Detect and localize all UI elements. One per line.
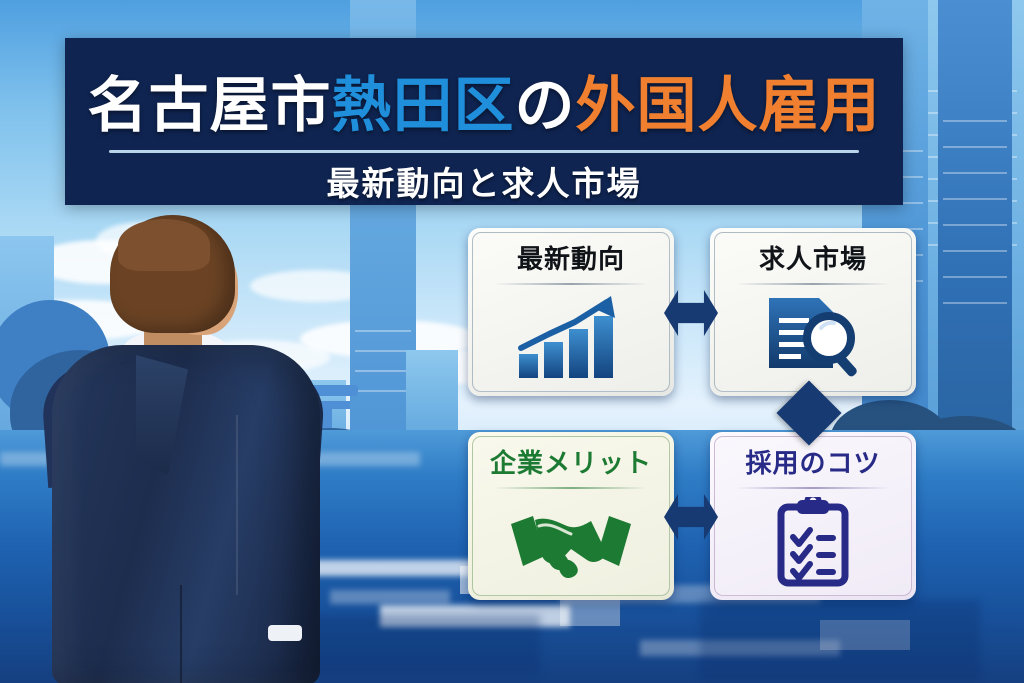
building-shape <box>938 0 1012 470</box>
header-banner: 名古屋市熱田区の外国人雇用 最新動向と求人市場 <box>65 38 903 205</box>
card-job-market[interactable]: 求人市場 <box>710 228 916 396</box>
card-hiring-tips[interactable]: 採用のコツ <box>710 432 916 600</box>
page-subtitle: 最新動向と求人市場 <box>65 164 903 204</box>
title-part-2: 熱田区 <box>332 72 515 139</box>
mosaic-tile <box>560 600 620 626</box>
page-title: 名古屋市熱田区の外国人雇用 <box>65 76 903 136</box>
handshake-icon <box>473 489 669 595</box>
title-part-4: 外国人雇用 <box>576 72 881 139</box>
clipboard-checklist-icon <box>715 489 911 595</box>
topic-card-grid: 最新動向 求 <box>468 228 916 600</box>
mosaic-tile <box>820 620 910 650</box>
sleeve-seam <box>236 415 238 595</box>
jacket-vent <box>180 585 182 683</box>
card-latest-trends[interactable]: 最新動向 <box>468 228 674 396</box>
document-magnifier-icon <box>715 285 911 391</box>
card-company-merits[interactable]: 企業メリット <box>468 432 674 600</box>
card-title: 求人市場 <box>759 246 867 272</box>
shirt-cuff <box>268 625 302 641</box>
title-divider <box>109 150 859 153</box>
ground-stripe <box>330 590 450 604</box>
title-part-1: 名古屋市 <box>88 72 332 139</box>
businessman-illustration <box>40 205 340 683</box>
bar-chart-growth-icon <box>473 285 669 391</box>
title-part-3: の <box>515 72 576 139</box>
card-title: 最新動向 <box>517 246 625 272</box>
hair <box>110 215 235 333</box>
card-title: 採用のコツ <box>745 450 880 476</box>
card-title: 企業メリット <box>490 450 652 476</box>
